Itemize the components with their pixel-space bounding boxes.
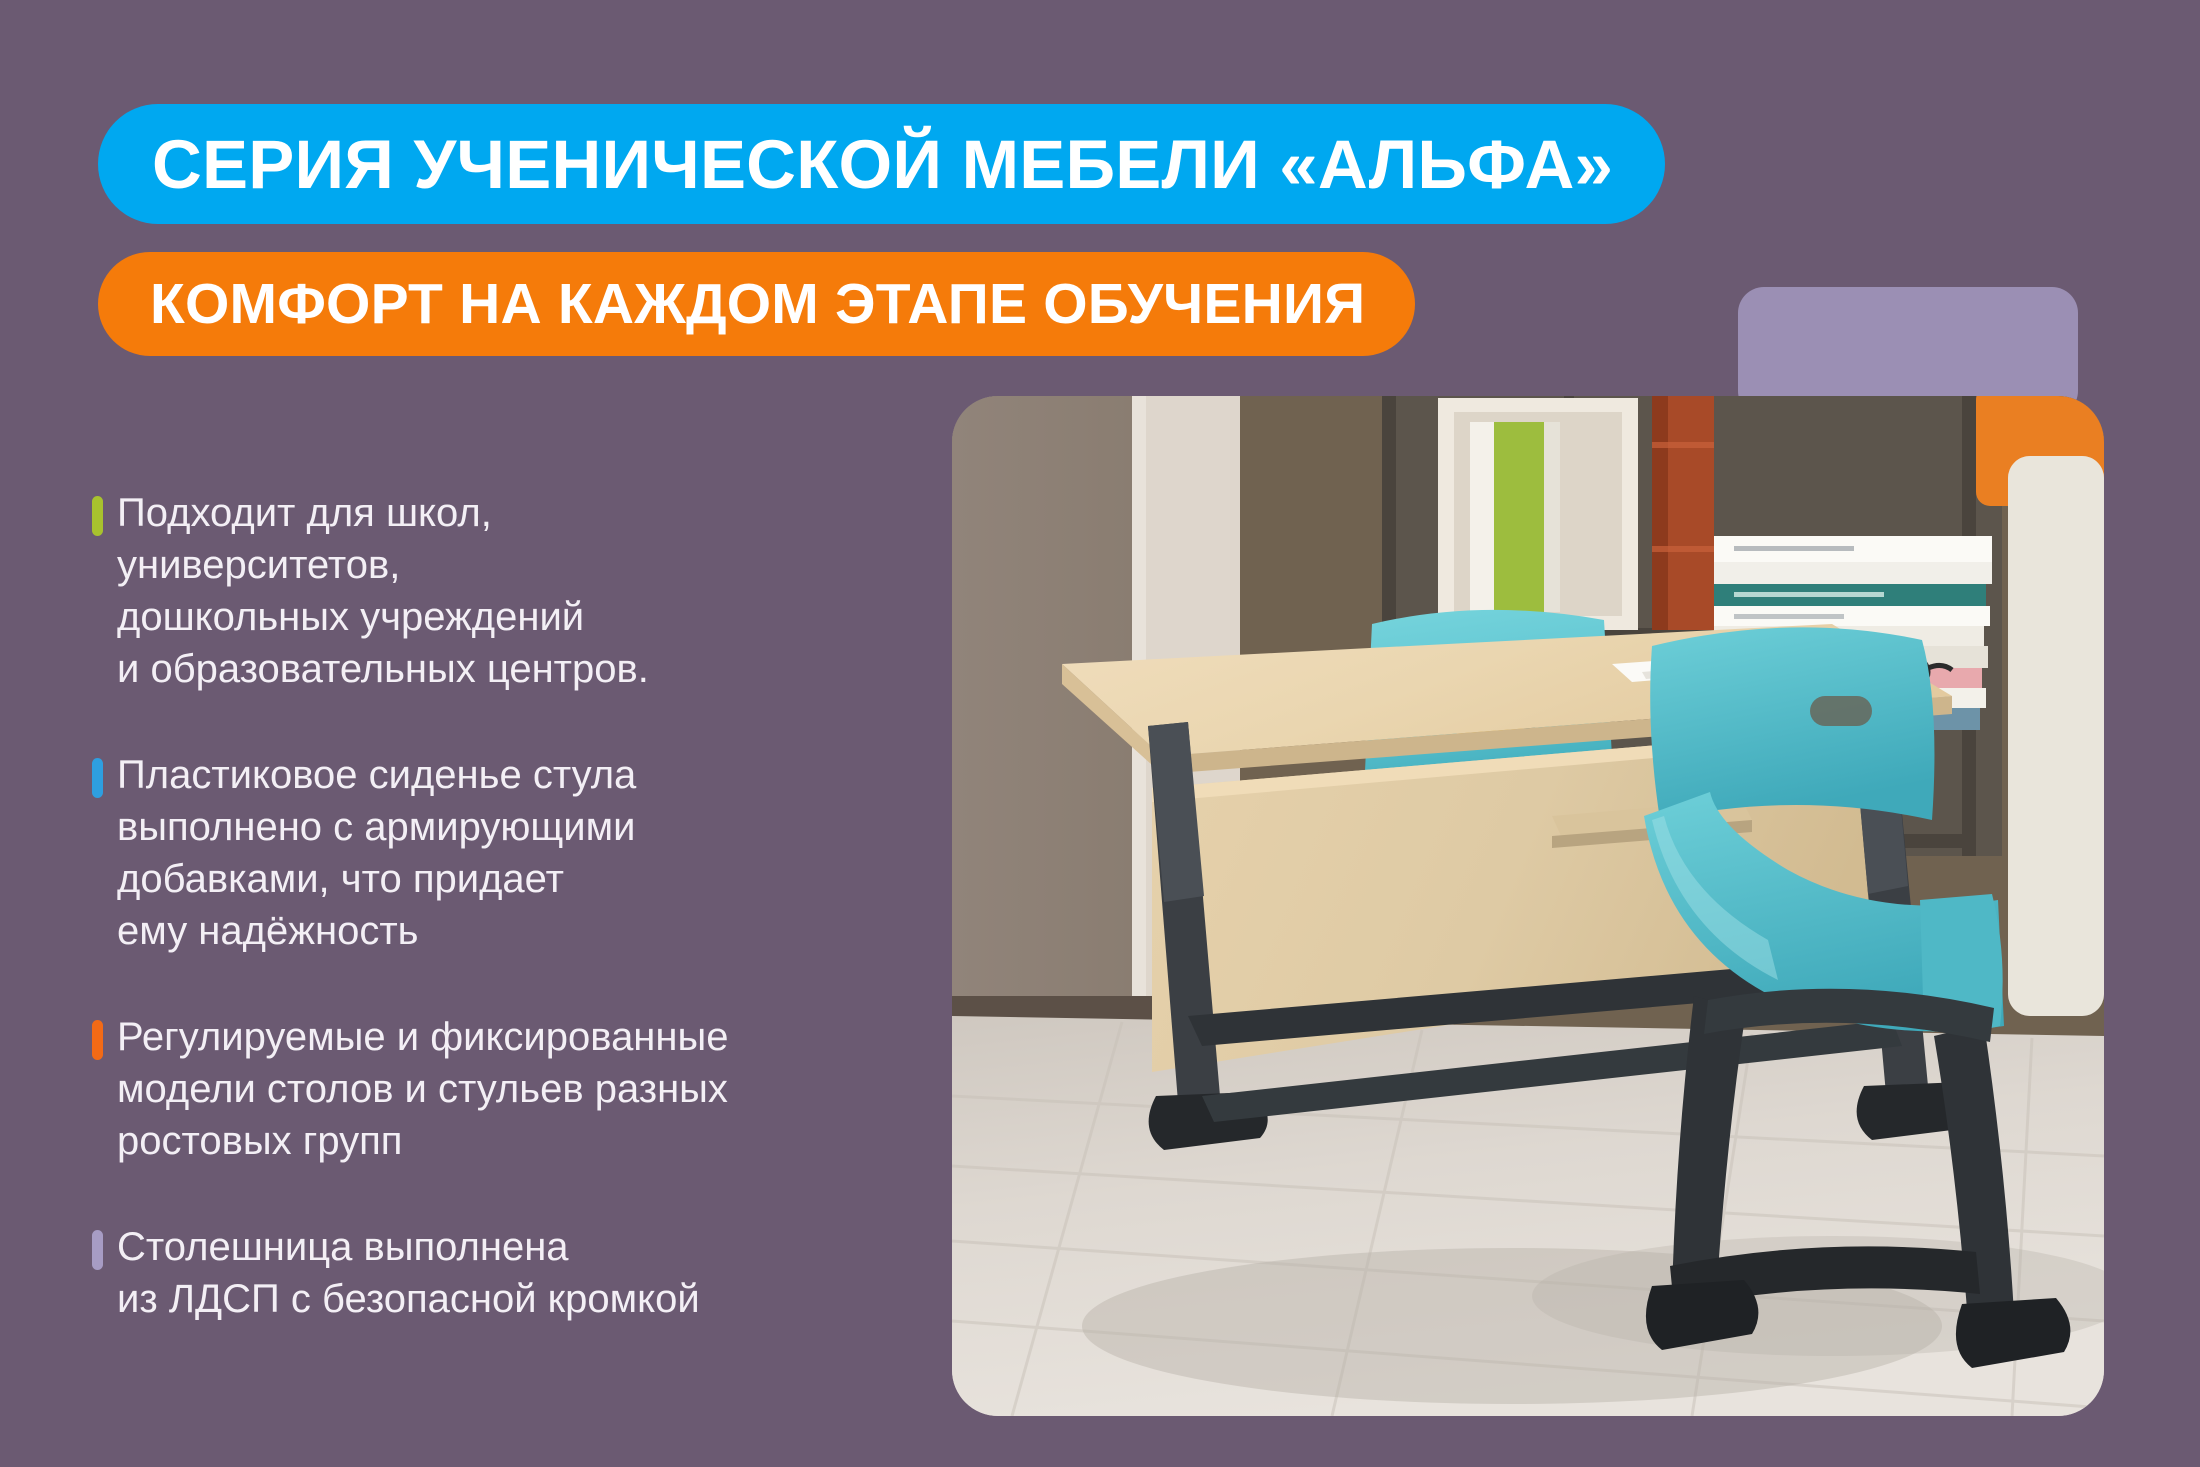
classroom-scene xyxy=(952,396,2104,1416)
poster-subtitle-banner: КОМФОРТ НА КАЖДОМ ЭТАПЕ ОБУЧЕНИЯ xyxy=(98,252,1415,356)
accent-bar-icon xyxy=(92,1020,103,1060)
accent-bar-icon xyxy=(92,496,103,536)
poster-title-banner: СЕРИЯ УЧЕНИЧЕСКОЙ МЕБЕЛИ «АЛЬФА» xyxy=(98,104,1665,224)
product-photo xyxy=(952,396,2104,1416)
feature-text: Регулируемые и фиксированные модели стол… xyxy=(117,1011,728,1167)
feature-item: Столешница выполнена из ЛДСП с безопасно… xyxy=(92,1221,912,1325)
feature-item: Пластиковое сиденье стула выполнено с ар… xyxy=(92,749,912,957)
feature-item: Регулируемые и фиксированные модели стол… xyxy=(92,1011,912,1167)
promo-poster: СЕРИЯ УЧЕНИЧЕСКОЙ МЕБЕЛИ «АЛЬФА» КОМФОРТ… xyxy=(0,0,2200,1467)
feature-list: Подходит для школ, университетов, дошкол… xyxy=(92,487,912,1325)
feature-text: Столешница выполнена из ЛДСП с безопасно… xyxy=(117,1221,700,1325)
poster-title: СЕРИЯ УЧЕНИЧЕСКОЙ МЕБЕЛИ «АЛЬФА» xyxy=(152,125,1613,204)
poster-subtitle: КОМФОРТ НА КАЖДОМ ЭТАПЕ ОБУЧЕНИЯ xyxy=(150,271,1365,337)
accent-bar-icon xyxy=(92,758,103,798)
feature-text: Пластиковое сиденье стула выполнено с ар… xyxy=(117,749,636,957)
accent-bar-icon xyxy=(92,1230,103,1270)
feature-item: Подходит для школ, университетов, дошкол… xyxy=(92,487,912,695)
feature-text: Подходит для школ, университетов, дошкол… xyxy=(117,487,649,695)
